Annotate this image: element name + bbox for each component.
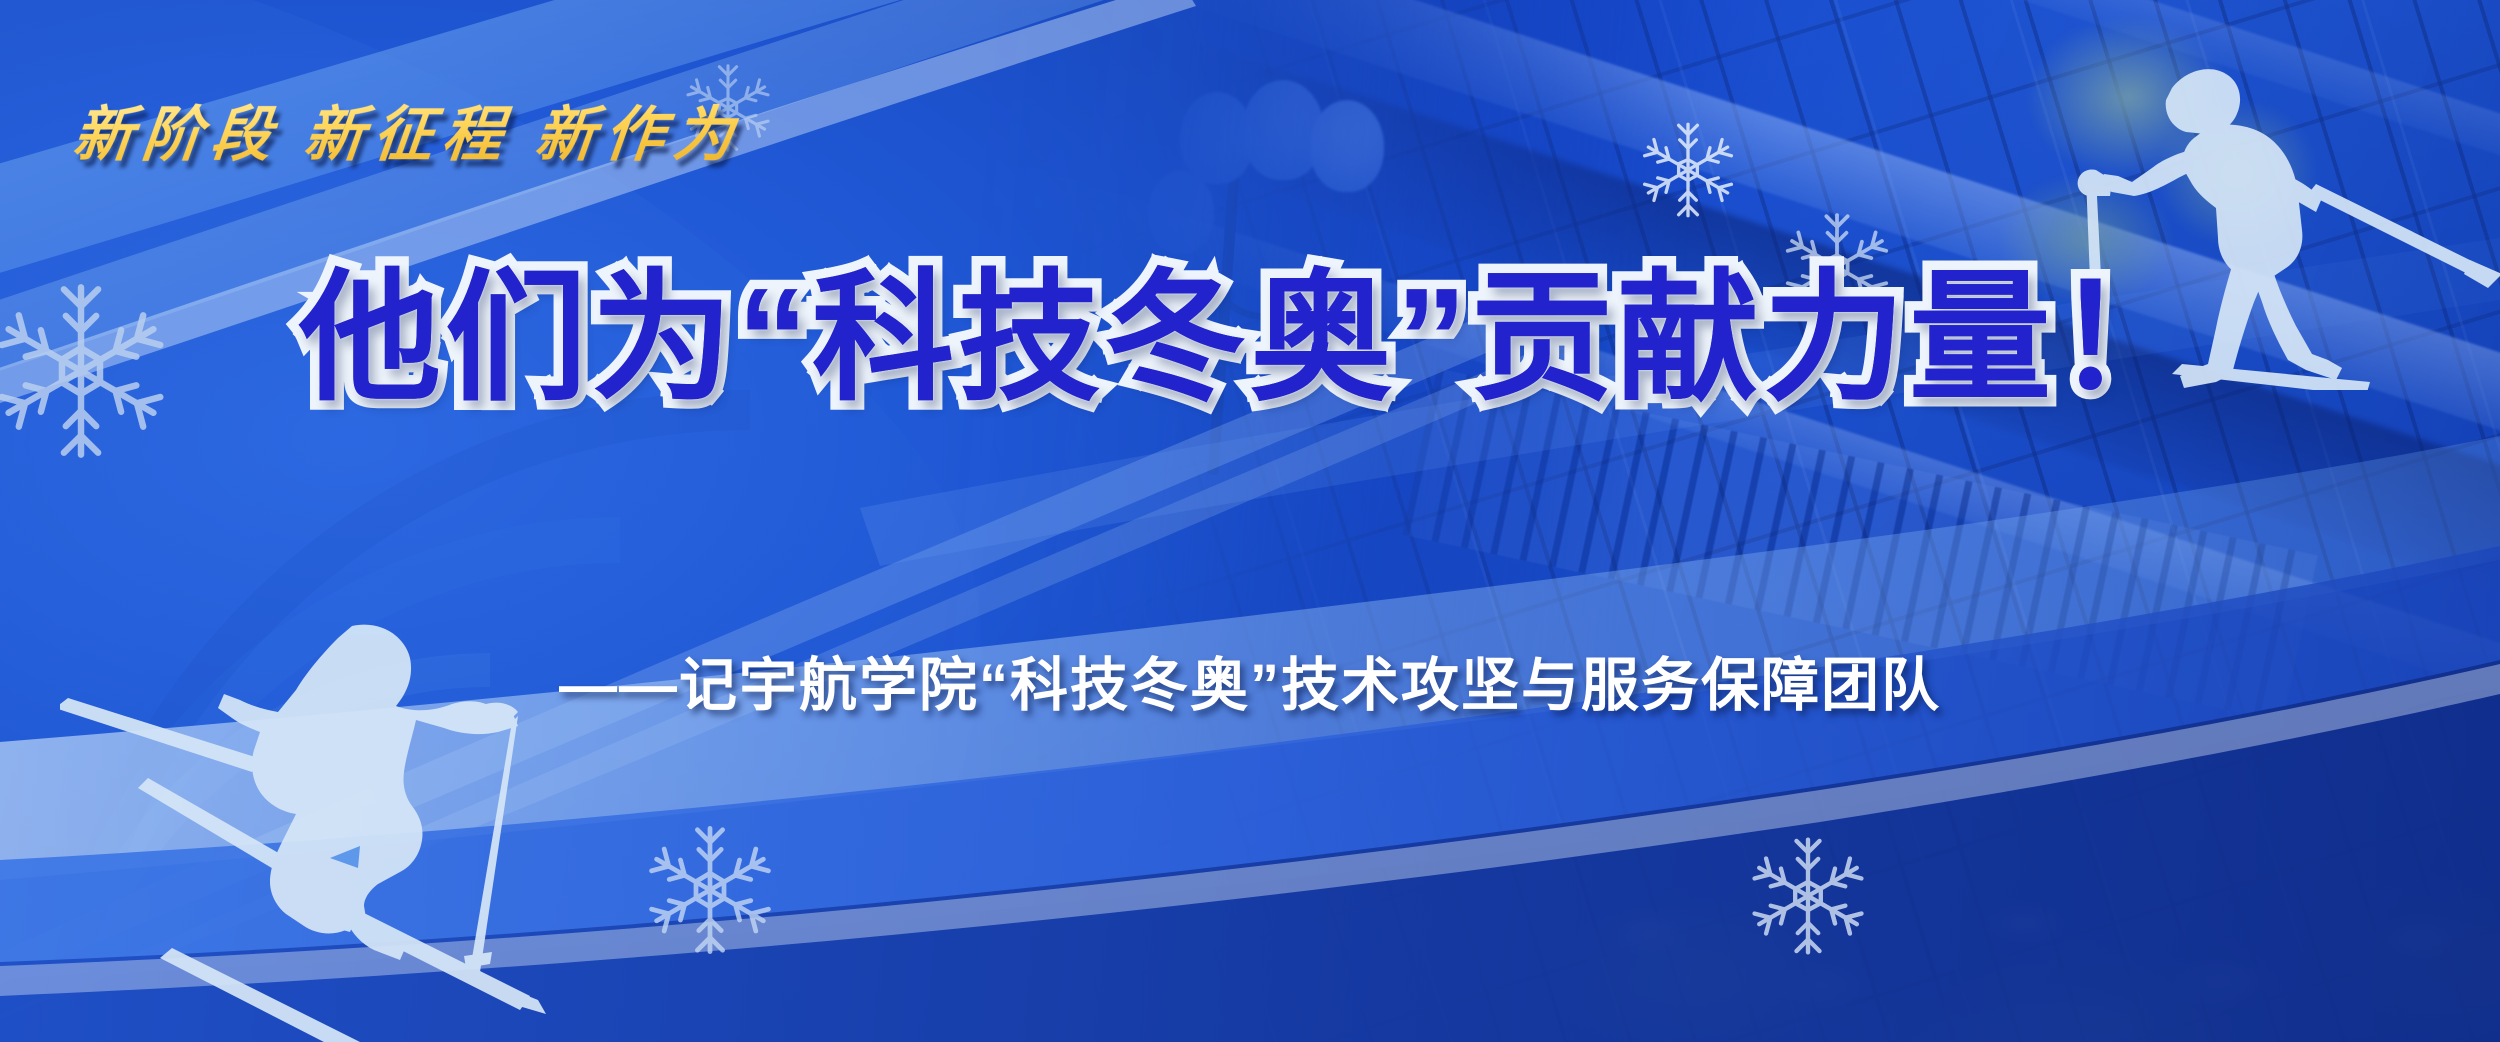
page-title: 他们为“科技冬奥”贡献力量！ [0, 262, 2500, 415]
kicker-slogan: 新阶段 新征程 新作为 [69, 86, 747, 173]
winter-olympics-banner: 新阶段 新征程 新作为 他们为“科技冬奥”贡献力量！ 他们为“科技冬奥”贡献力量… [0, 0, 2500, 1042]
subtitle: ——记宇航学院“科技冬奥”技术攻坚与服务保障团队 [0, 638, 2500, 722]
